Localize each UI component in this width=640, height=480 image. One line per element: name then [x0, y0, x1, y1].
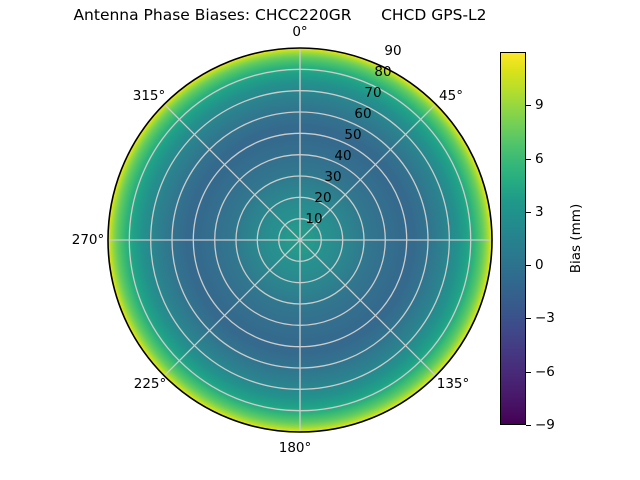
- colorbar-tickmark-m3: [526, 318, 531, 319]
- colorbar-ticklabel-m6: −6: [535, 364, 555, 380]
- page-title: Antenna Phase Biases: CHCC220GR CHCD GPS…: [0, 6, 560, 24]
- radial-tick-30: 30: [324, 169, 341, 185]
- colorbar-ticklabel-0: 0: [535, 257, 544, 273]
- polar-grid-spokes: [108, 48, 492, 432]
- angular-tick-270: 270°: [72, 232, 105, 248]
- polar-axes: 0° 45° 90 135° 180° 225° 270° 315° 10 20…: [106, 46, 494, 434]
- radial-tick-70: 70: [364, 85, 381, 101]
- colorbar-tickmark-m9: [526, 425, 531, 426]
- colorbar-tickmark-6: [526, 159, 531, 160]
- colorbar-gradient: [500, 52, 526, 425]
- radial-tick-50: 50: [344, 127, 361, 143]
- radial-tick-80: 80: [374, 64, 391, 80]
- radial-tick-40: 40: [334, 148, 351, 164]
- angular-tick-225: 225°: [134, 376, 167, 392]
- angular-tick-0: 0°: [292, 24, 307, 40]
- radial-tick-60: 60: [354, 106, 371, 122]
- colorbar: 9 6 3 0 −3 −6 −9: [500, 52, 526, 425]
- angular-tick-180: 180°: [279, 440, 312, 456]
- angular-tick-315: 315°: [133, 88, 166, 104]
- colorbar-ticklabel-6: 6: [535, 151, 544, 167]
- colorbar-tickmark-0: [526, 265, 531, 266]
- radial-tick-20: 20: [314, 190, 331, 206]
- colorbar-ticklabel-m3: −3: [535, 310, 555, 326]
- colorbar-tickmark-3: [526, 212, 531, 213]
- colorbar-ticklabel-9: 9: [535, 97, 544, 113]
- radial-tick-90: 90: [384, 43, 401, 59]
- angular-tick-135: 135°: [437, 376, 470, 392]
- colorbar-ticklabel-3: 3: [535, 204, 544, 220]
- colorbar-ticklabel-m9: −9: [535, 417, 555, 433]
- angular-tick-45: 45°: [439, 88, 463, 104]
- radial-tick-10: 10: [305, 211, 322, 227]
- colorbar-tickmark-m6: [526, 372, 531, 373]
- matplotlib-figure: Antenna Phase Biases: CHCC220GR CHCD GPS…: [0, 0, 640, 480]
- colorbar-tickmark-9: [526, 105, 531, 106]
- colorbar-axis-label: Bias (mm): [566, 52, 586, 425]
